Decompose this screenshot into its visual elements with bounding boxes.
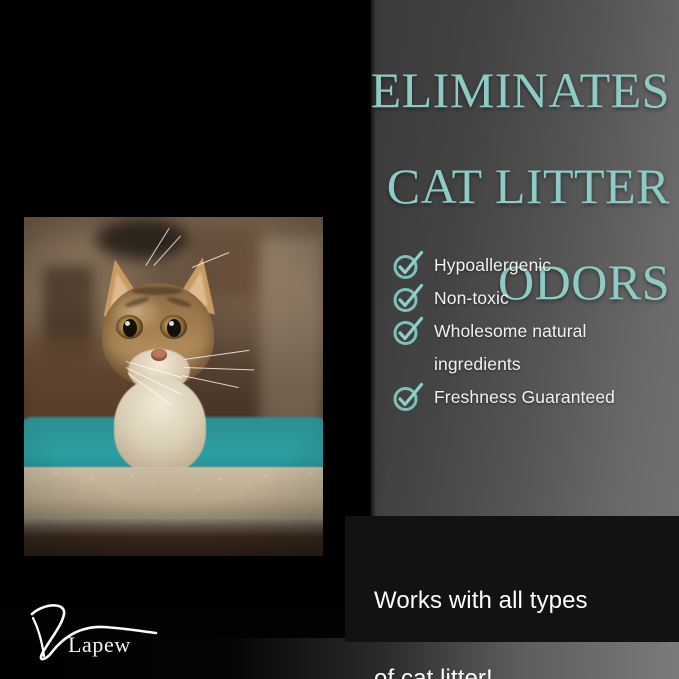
feature-label: Freshness Guaranteed bbox=[434, 382, 615, 413]
headline-line-1: ELIMINATES bbox=[250, 66, 670, 114]
logo-wordmark: Lapew bbox=[68, 632, 131, 658]
feature-item-freshness-guaranteed: Freshness Guaranteed bbox=[392, 382, 674, 413]
callout-box: Works with all types of cat litter! bbox=[345, 516, 679, 642]
feature-item-hypoallergenic: Hypoallergenic bbox=[392, 250, 674, 281]
feature-label-continuation: ingredients bbox=[434, 349, 521, 380]
feature-label: Non-toxic bbox=[434, 283, 509, 314]
check-slot bbox=[392, 283, 434, 314]
callout-text: Works with all types of cat litter! bbox=[374, 542, 664, 679]
check-slot bbox=[392, 382, 434, 413]
feature-item-wholesome-natural-ingredients: Wholesome natural bbox=[392, 316, 674, 347]
feature-list: Hypoallergenic Non-toxic Wholesome natur… bbox=[392, 250, 674, 415]
callout-line-2: of cat litter! bbox=[374, 665, 493, 679]
check-slot bbox=[392, 316, 434, 347]
check-slot-empty bbox=[392, 349, 434, 380]
brand-logo: Lapew bbox=[22, 602, 172, 664]
advertisement-canvas: ELIMINATES CAT LITTER ODORS Hypoallergen… bbox=[0, 0, 679, 679]
feature-label: Hypoallergenic bbox=[434, 250, 551, 281]
check-circle-icon bbox=[392, 283, 424, 313]
callout-line-1: Works with all types bbox=[374, 587, 588, 614]
check-slot bbox=[392, 250, 434, 281]
feature-label: Wholesome natural bbox=[434, 316, 586, 347]
check-circle-icon bbox=[392, 250, 424, 280]
feature-item-non-toxic: Non-toxic bbox=[392, 283, 674, 314]
check-circle-icon bbox=[392, 316, 424, 346]
feature-item-continuation: ingredients bbox=[392, 349, 674, 380]
check-circle-icon bbox=[392, 382, 424, 412]
headline-line-2: CAT LITTER bbox=[250, 162, 670, 210]
